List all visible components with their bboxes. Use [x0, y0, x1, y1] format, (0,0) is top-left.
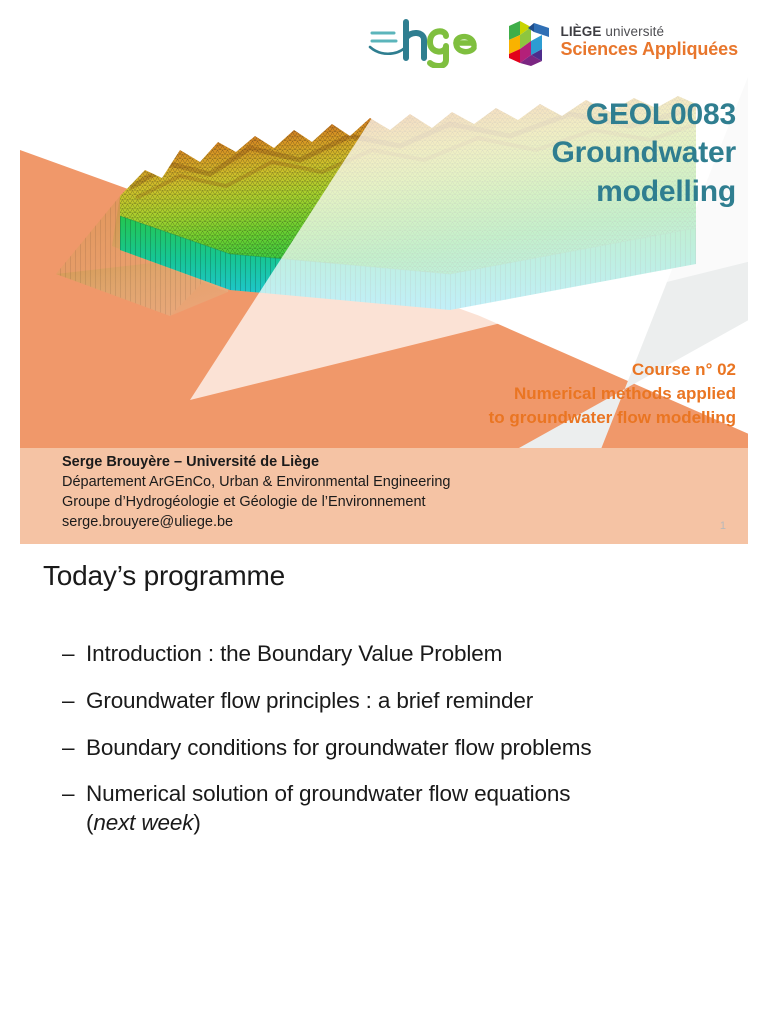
bullet-dash: – — [62, 780, 86, 809]
uliege-mark-icon — [506, 18, 552, 66]
uliege-logo: LIÈGE université Sciences Appliquées — [506, 18, 738, 66]
author-block: Serge Brouyère – Université de Liège Dép… — [62, 452, 450, 532]
author-name: Serge Brouyère – Université de Liège — [62, 452, 450, 472]
hge-logo — [366, 16, 478, 68]
logo-row: LIÈGE université Sciences Appliquées — [366, 14, 738, 70]
uliege-word-universite: université — [602, 24, 665, 39]
course-subject-line2: to groundwater flow modelling — [276, 406, 736, 430]
programme-list: –Introduction : the Boundary Value Probl… — [62, 640, 722, 856]
content-area: Today’s programme –Introduction : the Bo… — [0, 544, 768, 1024]
page-title: Today’s programme — [43, 560, 285, 592]
slide-title-line1: GEOL0083 — [356, 96, 736, 134]
list-item-label: Numerical solution of groundwater flow e… — [86, 780, 722, 838]
list-item-label: Introduction : the Boundary Value Proble… — [86, 640, 722, 669]
slide-title-line2: Groundwater — [356, 134, 736, 172]
list-item-label: Groundwater flow principles : a brief re… — [86, 687, 722, 716]
author-email: serge.brouyere@uliege.be — [62, 512, 450, 532]
course-subject-line1: Numerical methods applied — [276, 382, 736, 406]
course-subtitle: Course n° 02 Numerical methods applied t… — [276, 358, 736, 430]
slide-number: 1 — [720, 520, 726, 532]
list-item: –Boundary conditions for groundwater flo… — [62, 734, 722, 763]
bullet-dash: – — [62, 687, 86, 716]
list-item-label: Boundary conditions for groundwater flow… — [86, 734, 722, 763]
slide-title: GEOL0083 Groundwater modelling — [356, 96, 736, 211]
author-department: Département ArGEnCo, Urban & Environment… — [62, 472, 450, 492]
bullet-dash: – — [62, 640, 86, 669]
list-item: –Groundwater flow principles : a brief r… — [62, 687, 722, 716]
title-slide: LIÈGE université Sciences Appliquées GEO… — [20, 0, 748, 544]
author-group: Groupe d’Hydrogéologie et Géologie de l’… — [62, 492, 450, 512]
bullet-dash: – — [62, 734, 86, 763]
uliege-line1: LIÈGE université — [560, 25, 738, 40]
uliege-line2: Sciences Appliquées — [560, 40, 738, 59]
list-item: –Introduction : the Boundary Value Probl… — [62, 640, 722, 669]
list-item: –Numerical solution of groundwater flow … — [62, 780, 722, 838]
list-item-emphasis: next week — [93, 810, 193, 835]
course-number: Course n° 02 — [276, 358, 736, 382]
uliege-word-liege: LIÈGE — [560, 24, 601, 39]
slide-title-line3: modelling — [356, 173, 736, 211]
